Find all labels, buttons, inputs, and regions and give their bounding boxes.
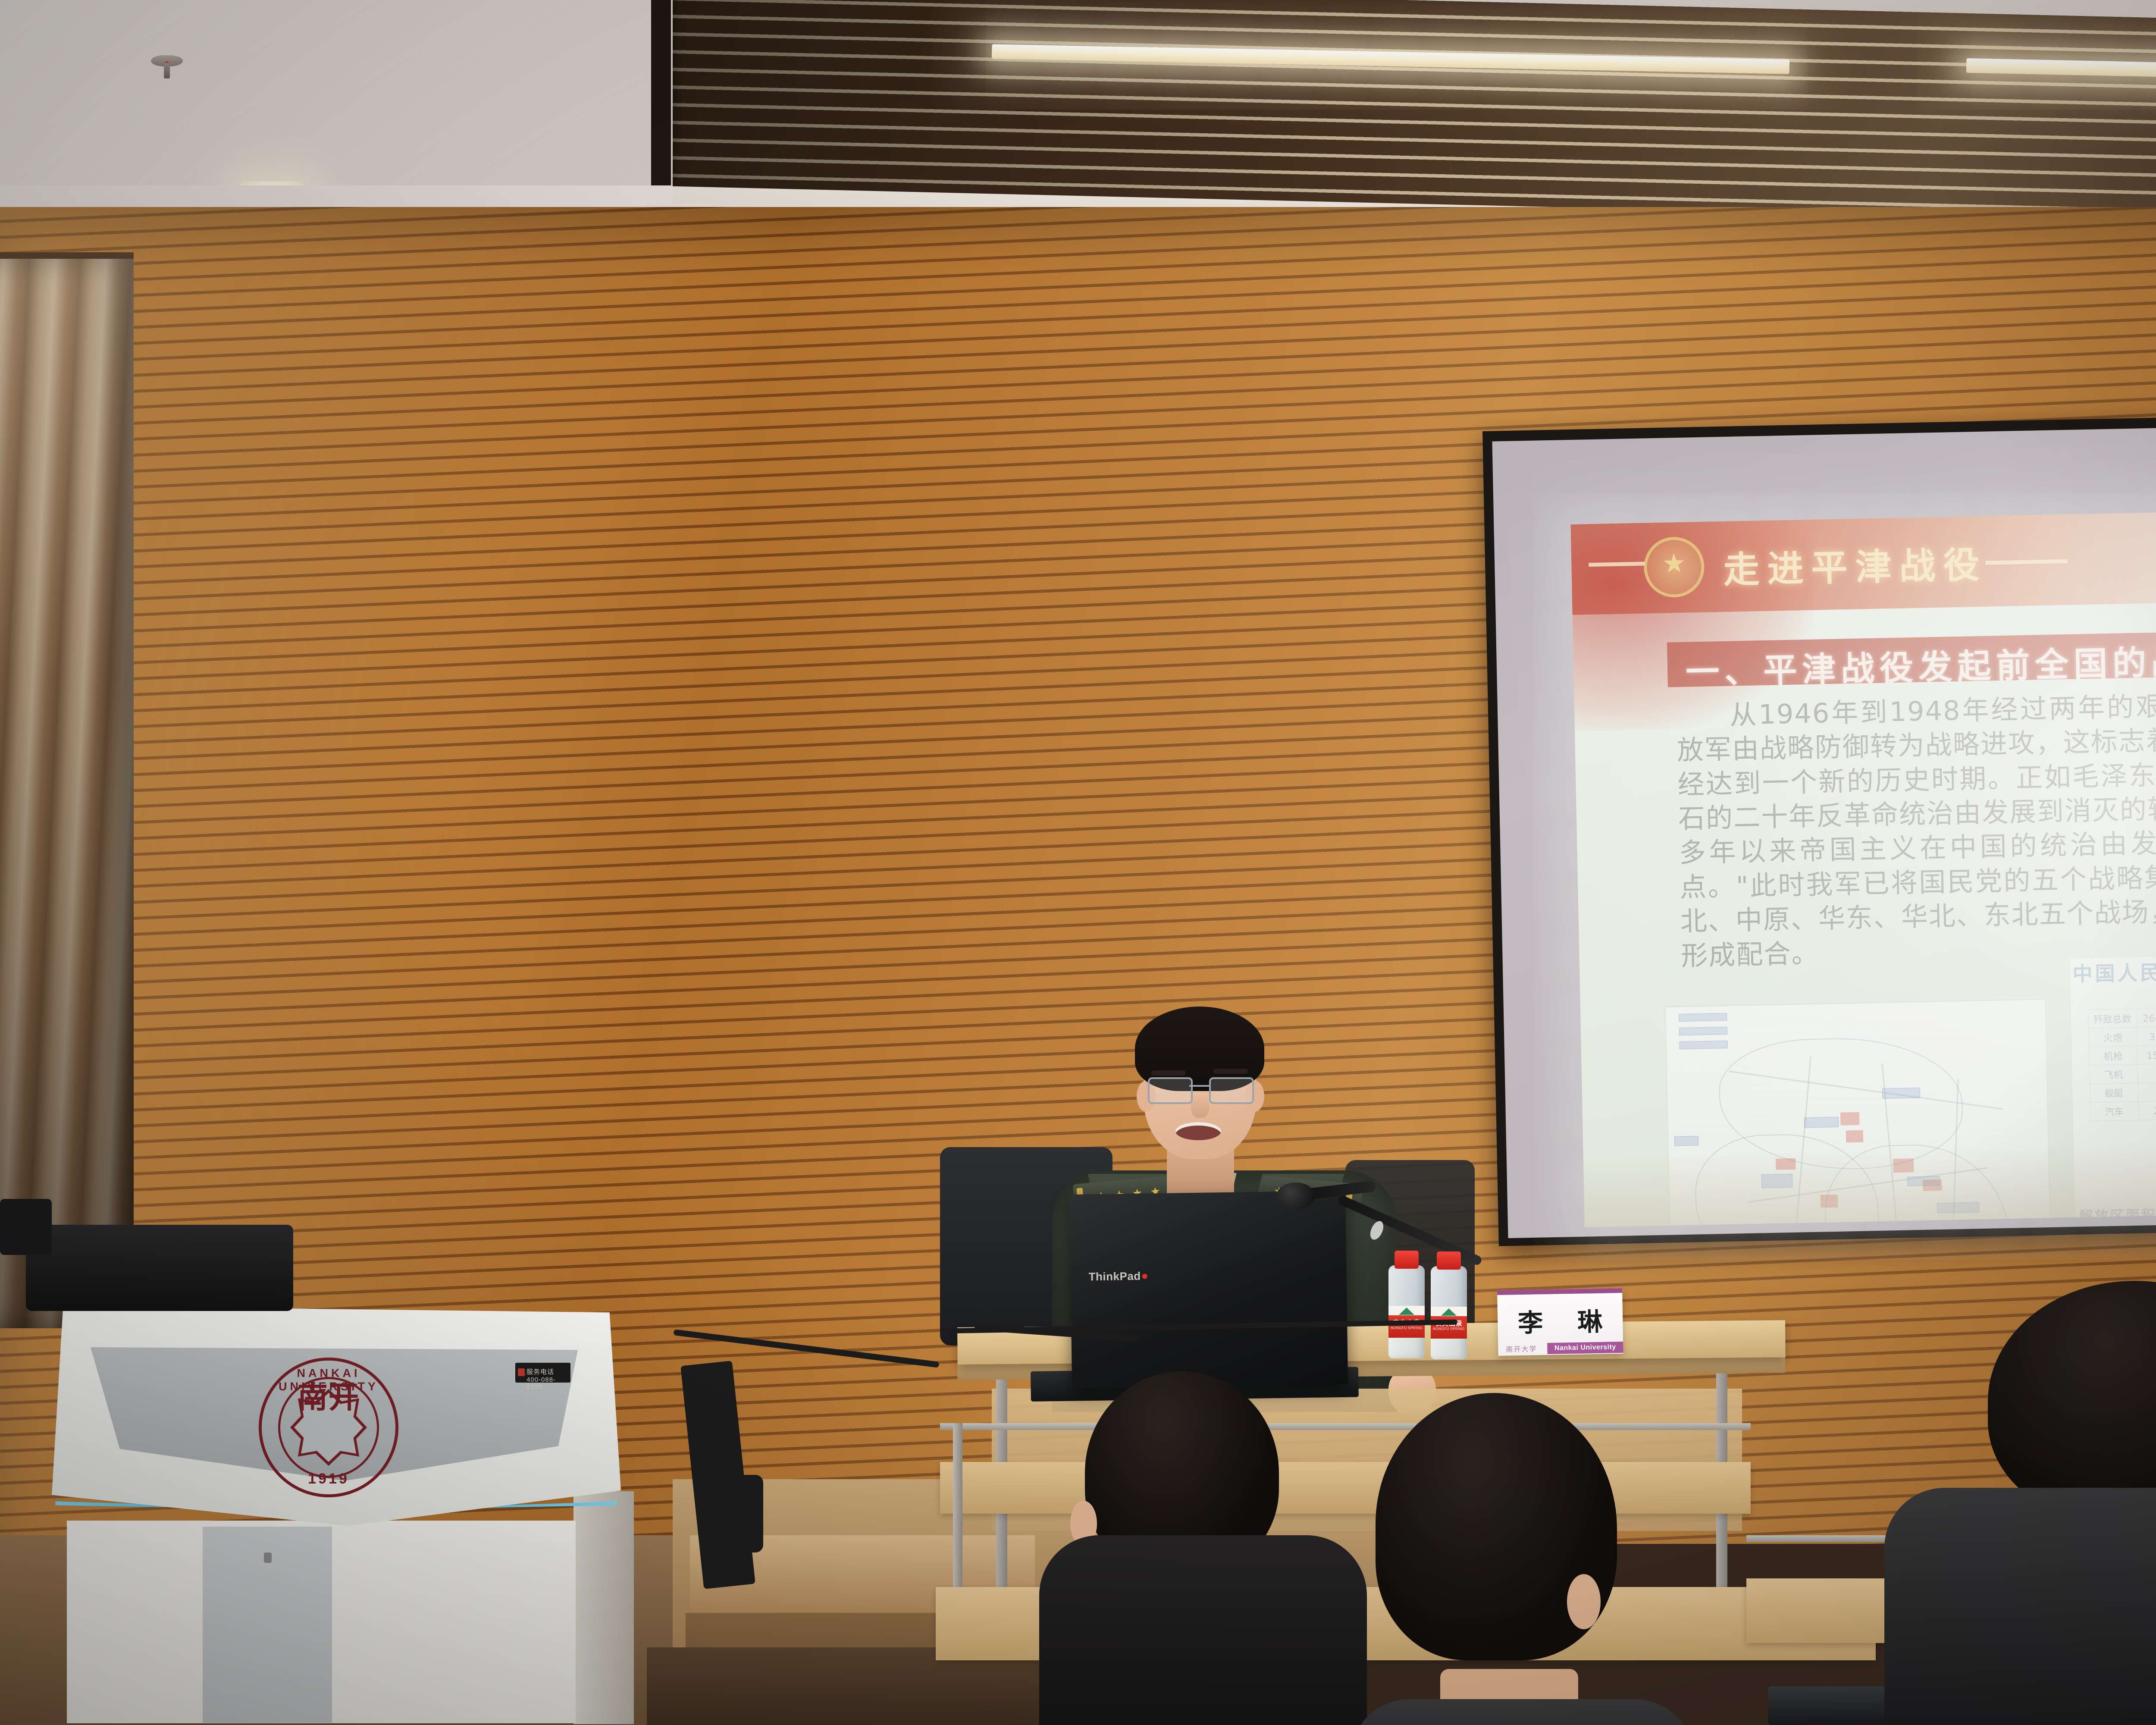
slide-body-text: 从1946年到1948年经过两年的艰苦作战，人民解放军由战略防御转为战略进攻，这… [1676,685,2156,973]
eyebrow [1151,1070,1186,1076]
slide-banner-title: 走进平津战役 [1723,536,1987,593]
table-cell: 2246辆 [2138,1100,2156,1120]
seal-chinese-characters: 南开 [262,1382,395,1412]
table-cell: 舰艇 [2090,1083,2138,1102]
table-cell: 248艘 [2138,1082,2156,1101]
projection-screen: 走进平津战役 一、平津战役发起前全国的战略形势 从1946年到1948年经过两年… [1482,409,2156,1246]
sticker-text: 服务电话 400-088-6289 [526,1367,570,1391]
nameplate-university-cn: 南开大学 [1506,1343,1537,1354]
table-cell: 飞机 [2089,1064,2137,1084]
student-hair [1988,1281,2156,1522]
audience-desk-leg [953,1423,962,1587]
table-cell: 12架 [2137,1063,2156,1083]
lectern-lock-icon[interactable] [264,1552,272,1563]
water-bottle[interactable]: 农夫山泉 NONGFU SPRING [1388,1251,1425,1358]
nameplate-name: 李 琳 [1498,1301,1623,1339]
water-bottle[interactable]: 农夫山泉 NONGFU SPRING [1431,1251,1467,1359]
cable-power-brick [707,1475,763,1552]
student [1341,1393,1703,1725]
lectern[interactable]: NANKAI UNIVERSITY 南开 1919 服务电话 400-088-6… [17,1306,630,1720]
table-cell: 歼敌总数 [2088,1009,2137,1028]
sticker-logo-icon [518,1368,525,1376]
screen-surface: 走进平津战役 一、平津战役发起前全国的战略形势 从1946年到1948年经过两年… [1492,420,2156,1238]
laptop[interactable]: ThinkPad [1069,1191,1348,1389]
student-shoulders [1350,1699,1695,1725]
seal-year: 1919 [262,1471,395,1487]
equipment-bag [26,1225,293,1311]
lectern-service-sticker: 服务电话 400-088-6289 [515,1363,570,1383]
slide-section-heading: 一、平津战役发起前全国的战略形势 [1685,633,2156,694]
statistics-table-title: 中国人民解放战争两年战绩统计表 [2070,956,2156,1009]
student [1048,1371,1350,1725]
nose [1191,1095,1209,1118]
mountain-logo-icon [1441,1308,1457,1316]
table-cell: 2644000人 [2136,1007,2156,1027]
table-cell: 155000挺 [2137,1044,2156,1064]
table-cell: 机枪 [2089,1046,2137,1065]
table-cell: 36000门 [2137,1026,2156,1046]
lecture-hall-photo: 走进平津战役 一、平津战役发起前全国的战略形势 从1946年到1948年经过两年… [0,0,2156,1725]
bottle-cap [1395,1251,1419,1269]
bottle-cap [1437,1251,1461,1270]
table-cell: 火炮 [2089,1027,2137,1047]
microphone-head-icon[interactable] [1276,1182,1315,1209]
window-curtain[interactable] [0,259,134,1328]
thinkpad-logo: ThinkPad [1088,1269,1147,1283]
student-hoodie [1884,1488,2156,1725]
sprinkler-head-icon [151,55,183,66]
nameplate-university-en: Nankai University [1547,1342,1623,1354]
battle-results-mini-table: 歼敌总数2644000人人民解放军战前兵力1270000人火炮36000门国民党… [2088,1004,2156,1121]
mouth [1175,1122,1221,1140]
student-jacket [1039,1535,1367,1725]
table-cell: 汽车 [2090,1101,2138,1121]
equipment-case [0,1199,52,1255]
mountain-logo-icon [1399,1308,1414,1315]
desk-nameplate: 李 琳 南开大学 Nankai University [1497,1288,1623,1356]
lectern-side-panel [573,1491,634,1724]
student-ear [1567,1574,1601,1629]
nankai-university-seal: NANKAI UNIVERSITY 南开 1919 [259,1358,398,1497]
student [1910,1281,2156,1725]
presentation-slide: 走进平津战役 一、平津战役发起前全国的战略形势 从1946年到1948年经过两年… [1570,505,2156,1227]
eyebrow [1213,1069,1248,1074]
